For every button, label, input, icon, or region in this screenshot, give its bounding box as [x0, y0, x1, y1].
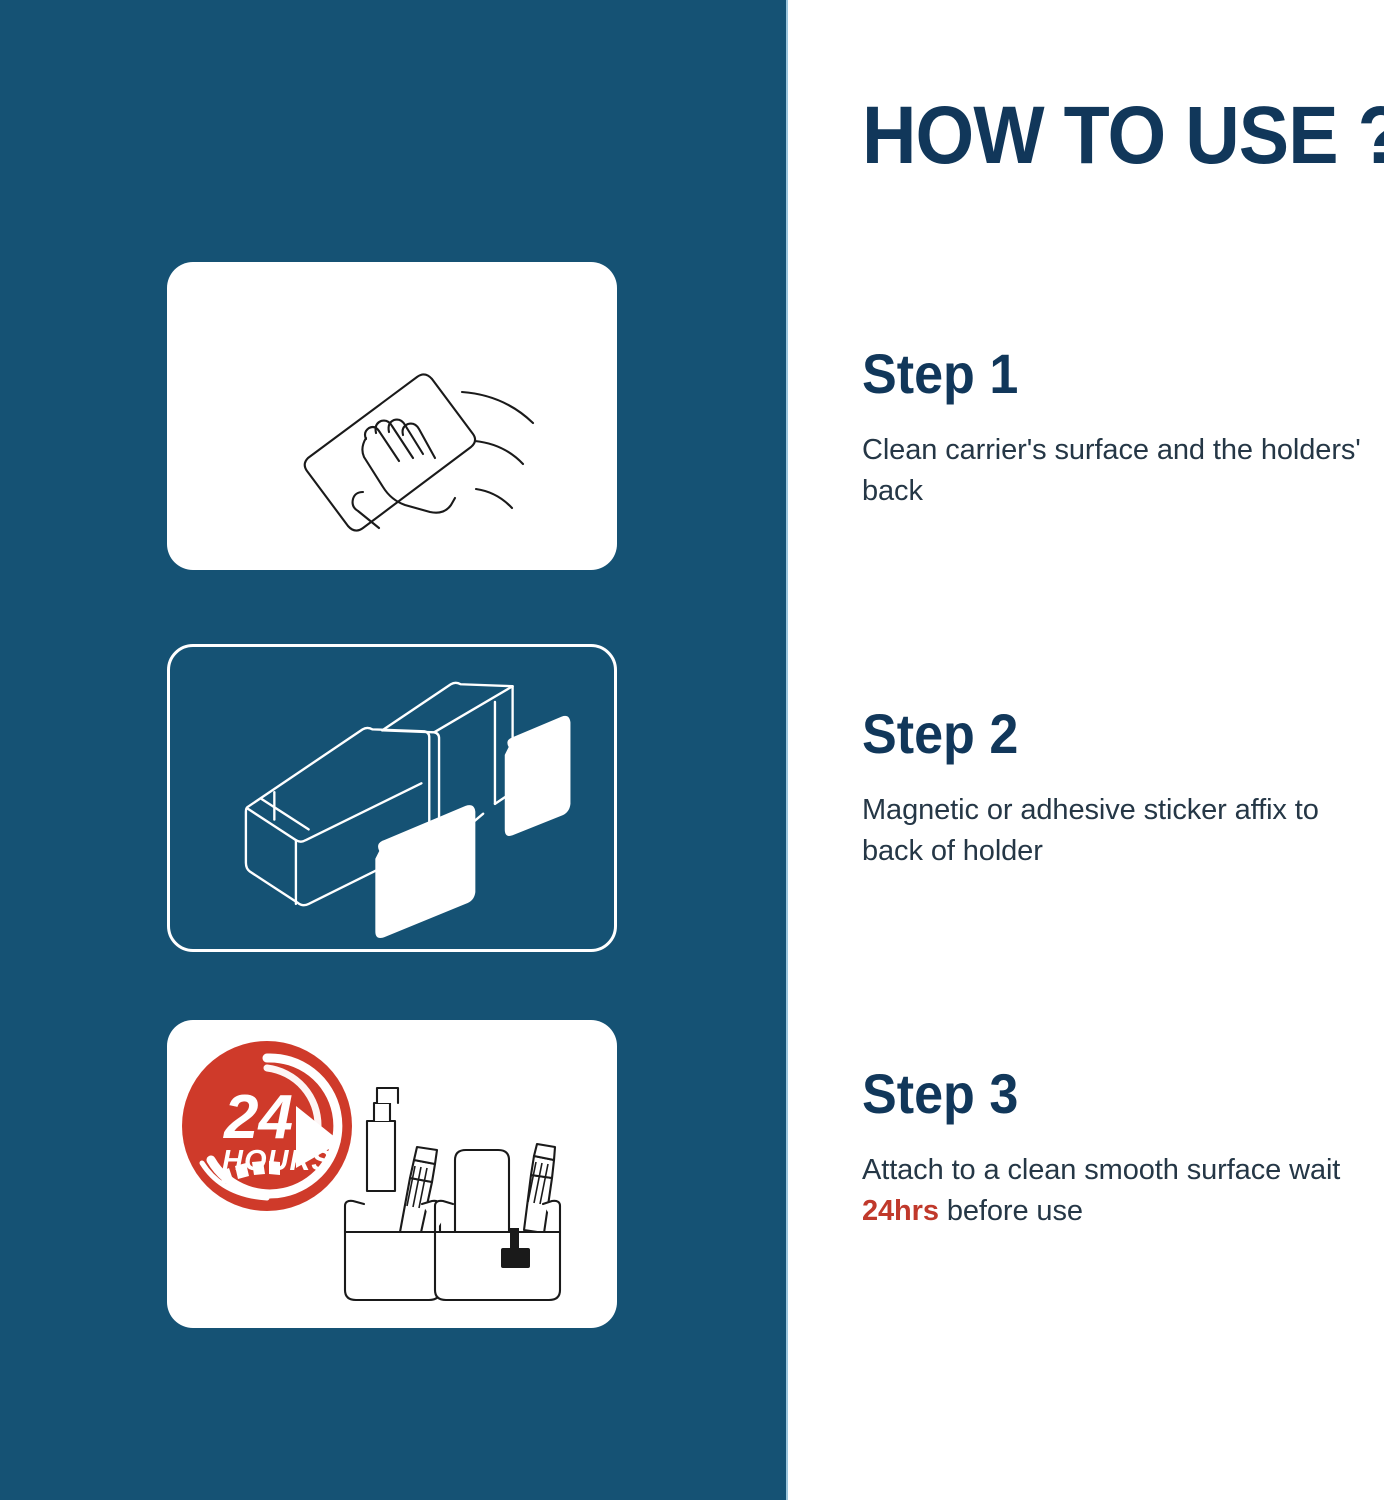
- step-2-illustration-card: [167, 644, 617, 952]
- step-1-text: Clean carrier's surface and the holders'…: [862, 434, 1361, 507]
- adhesive-sticker-shape: [375, 716, 570, 938]
- 24-hours-badge: 24 HOURS: [182, 1041, 352, 1211]
- step-2-description: Magnetic or adhesive sticker affix to ba…: [862, 790, 1362, 872]
- step-3-text-before: Attach to a clean smooth surface wait: [862, 1154, 1340, 1186]
- step-3-heading: Step 3: [862, 1065, 1327, 1124]
- step-3-description: Attach to a clean smooth surface wait 24…: [862, 1150, 1362, 1232]
- how-to-use-infographic: 24 HOURS: [0, 0, 1384, 1500]
- step-2-text: Magnetic or adhesive sticker affix to ba…: [862, 794, 1319, 867]
- step-2-heading: Step 2: [862, 705, 1327, 764]
- step-1-text-block: Step 1 Clean carrier's surface and the h…: [862, 345, 1362, 512]
- 24-hours-badge-and-holders-icon: 24 HOURS: [167, 1020, 617, 1328]
- step-3-text-block: Step 3 Attach to a clean smooth surface …: [862, 1065, 1362, 1232]
- right-text-column: HOW TO USE ? Step 1 Clean carrier's surf…: [788, 0, 1384, 1500]
- badge-number: 24: [223, 1083, 293, 1152]
- badge-unit: HOURS: [222, 1145, 332, 1177]
- step-3-highlight: 24hrs: [862, 1195, 939, 1227]
- step-1-heading: Step 1: [862, 345, 1327, 404]
- step-1-description: Clean carrier's surface and the holders'…: [862, 430, 1362, 512]
- step-2-text-block: Step 2 Magnetic or adhesive sticker affi…: [862, 705, 1362, 872]
- step-3-text-after: before use: [939, 1195, 1083, 1227]
- step-3-illustration-card: 24 HOURS: [167, 1020, 617, 1328]
- holder-with-adhesive-stickers-icon: [170, 647, 614, 949]
- step-1-illustration-card: [167, 262, 617, 570]
- hand-wiping-cloth-icon: [167, 262, 617, 570]
- page-title: HOW TO USE ?: [862, 95, 1340, 177]
